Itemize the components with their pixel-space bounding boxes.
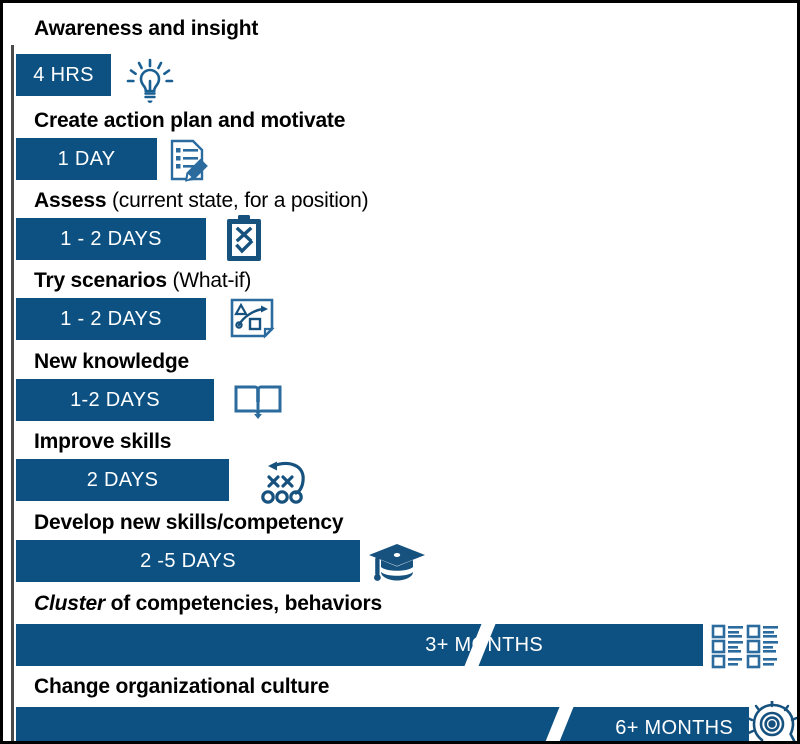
row-label: Assess (current state, for a position): [34, 189, 368, 213]
bar-value-label: 1 DAY: [58, 148, 116, 171]
bar-try-scenarios[interactable]: 1 - 2 DAYS: [16, 298, 206, 340]
bar-action-plan[interactable]: 1 DAY: [16, 138, 157, 180]
scenario-flow-icon: [227, 293, 277, 343]
head-idea-icon: [745, 701, 800, 744]
row-label: Cluster of competencies, behaviors: [34, 592, 382, 616]
chart-canvas: Awareness and insight 4 HRS: [0, 0, 800, 744]
row-label: Develop new skills/competency: [34, 511, 343, 535]
bar-culture[interactable]: 6+ MONTHS: [16, 707, 749, 744]
bar-assess[interactable]: 1 - 2 DAYS: [16, 218, 206, 260]
bar-value-label: 4 HRS: [33, 64, 93, 87]
open-book-icon: [232, 381, 284, 423]
row-label: Create action plan and motivate: [34, 109, 345, 133]
row-label: Improve skills: [34, 430, 171, 454]
bar-value-label: 1 - 2 DAYS: [60, 308, 162, 331]
document-pencil-icon: [166, 135, 212, 185]
bar-value-label: 1 - 2 DAYS: [60, 228, 162, 251]
bar-improve-skills[interactable]: 2 DAYS: [16, 459, 229, 501]
bar-value-label: 1-2 DAYS: [70, 389, 160, 412]
row-label: Change organizational culture: [34, 675, 329, 699]
bar-cluster[interactable]: 3+ MONTHS: [16, 624, 703, 666]
bar-value-label: 6+ MONTHS: [615, 717, 733, 740]
vertical-axis-line: [11, 45, 14, 744]
strategy-playbook-icon: [255, 455, 313, 507]
row-label: New knowledge: [34, 350, 189, 374]
row-label: Try scenarios (What-if): [34, 269, 251, 293]
bar-value-label: 2 DAYS: [87, 469, 158, 492]
bar-new-knowledge[interactable]: 1-2 DAYS: [16, 379, 214, 421]
clipboard-check-icon: [223, 213, 265, 263]
bar-awareness[interactable]: 4 HRS: [16, 54, 111, 96]
lightbulb-icon: [121, 57, 179, 105]
graduation-cap-icon: [367, 536, 427, 586]
bar-value-label: 2 -5 DAYS: [140, 550, 236, 573]
bar-develop-competency[interactable]: 2 -5 DAYS: [16, 540, 360, 582]
people-directory-icon: [711, 623, 779, 669]
row-label: Awareness and insight: [34, 17, 258, 41]
